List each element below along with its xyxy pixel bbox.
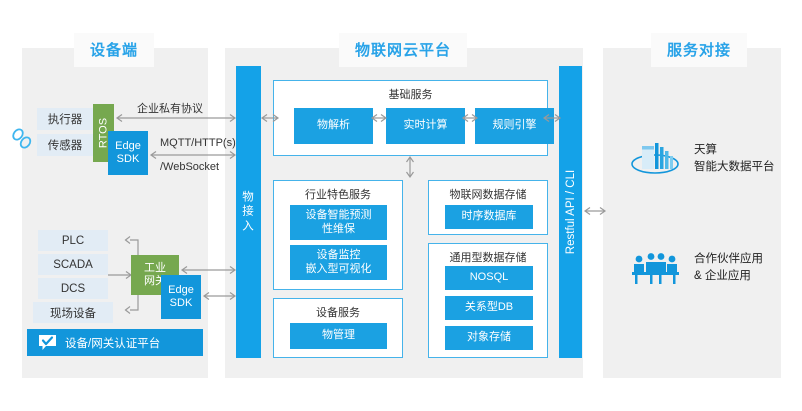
edge-sdk-device-label: Edge SDK bbox=[115, 140, 141, 165]
panel-title-device: 设备端 bbox=[74, 33, 154, 67]
link-icon bbox=[10, 126, 36, 152]
base-service-item-parse[interactable]: 物解析 bbox=[294, 108, 373, 144]
general-storage-item-object[interactable]: 对象存储 bbox=[445, 326, 533, 350]
restful-api-bar[interactable]: Restful API / CLI bbox=[559, 66, 582, 358]
service-partners-line1: 合作伙伴应用 bbox=[694, 251, 763, 268]
industry-service-item-predictive-label: 设备智能预测 性维保 bbox=[306, 209, 372, 235]
source-field-device[interactable]: 现场设备 bbox=[33, 302, 113, 323]
label-websocket: /WebSocket bbox=[160, 161, 219, 173]
ingress-bar-label: 物接入 bbox=[236, 190, 261, 233]
device-service-item-thing-mgmt[interactable]: 物管理 bbox=[290, 323, 387, 349]
partners-icon bbox=[630, 250, 680, 286]
check-bubble-icon bbox=[39, 335, 56, 350]
service-partners-line2: & 企业应用 bbox=[694, 268, 763, 285]
card-device-service-title: 设备服务 bbox=[274, 304, 402, 320]
arrow-gateway-to-platform-2 bbox=[201, 290, 238, 302]
device-cert-platform-bar[interactable]: 设备/网关认证平台 bbox=[27, 329, 203, 356]
card-general-storage-title: 通用型数据存储 bbox=[429, 249, 547, 265]
card-industry-service-title: 行业特色服务 bbox=[274, 186, 402, 202]
service-row-bigdata[interactable]: 天算 智能大数据平台 bbox=[630, 138, 775, 180]
industry-service-item-monitor[interactable]: 设备监控 嵌入型可视化 bbox=[290, 245, 387, 280]
device-endpoint-actuator[interactable]: 执行器 bbox=[37, 108, 93, 130]
industry-service-item-predictive[interactable]: 设备智能预测 性维保 bbox=[290, 205, 387, 240]
source-plc[interactable]: PLC bbox=[38, 230, 108, 251]
source-scada[interactable]: SCADA bbox=[38, 254, 108, 275]
service-bigdata-line2: 智能大数据平台 bbox=[694, 159, 775, 176]
ingress-bar[interactable]: 物接入 bbox=[236, 66, 261, 358]
base-service-item-realtime[interactable]: 实时计算 bbox=[386, 108, 465, 144]
general-storage-item-object-label: 对象存储 bbox=[467, 331, 511, 344]
arrow-realtime-to-rule bbox=[461, 112, 479, 124]
base-service-item-realtime-label: 实时计算 bbox=[404, 119, 448, 132]
arrow-platform-to-service bbox=[583, 205, 607, 217]
service-row-partners[interactable]: 合作伙伴应用 & 企业应用 bbox=[630, 250, 763, 286]
iot-storage-item-tsdb-label: 时序数据库 bbox=[462, 210, 517, 223]
arrow-gateway-to-platform-1 bbox=[179, 264, 238, 276]
source-scada-label: SCADA bbox=[53, 259, 93, 271]
arrow-ingress-to-base bbox=[260, 112, 280, 124]
arrow-private-protocol bbox=[114, 112, 238, 124]
label-mqtt-http: MQTT/HTTP(s) bbox=[160, 137, 236, 149]
panel-service-docking bbox=[603, 48, 781, 378]
general-storage-item-nosql-label: NOSQL bbox=[470, 271, 509, 284]
arrow-base-to-api bbox=[542, 112, 562, 124]
general-storage-item-rdb-label: 关系型DB bbox=[465, 301, 513, 314]
service-partners-text: 合作伙伴应用 & 企业应用 bbox=[694, 251, 763, 284]
source-field-device-label: 现场设备 bbox=[50, 305, 96, 321]
card-iot-storage-title: 物联网数据存储 bbox=[429, 186, 547, 202]
edge-sdk-gateway-label: Edge SDK bbox=[168, 284, 194, 309]
edge-sdk-device-box[interactable]: Edge SDK bbox=[108, 131, 148, 175]
panel-title-platform: 物联网云平台 bbox=[339, 33, 467, 67]
device-endpoint-sensor[interactable]: 传感器 bbox=[37, 134, 93, 156]
industry-service-item-monitor-label: 设备监控 嵌入型可视化 bbox=[306, 249, 372, 275]
architecture-diagram: 设备端 物联网云平台 服务对接 执行器 传感器 RTOS Edge SDK 企业… bbox=[0, 0, 802, 411]
arrow-parse-to-realtime bbox=[370, 112, 388, 124]
device-endpoint-actuator-label: 执行器 bbox=[48, 111, 83, 127]
card-base-service: 基础服务 物解析 实时计算 规则引擎 bbox=[273, 80, 548, 156]
bigdata-platform-icon bbox=[630, 138, 680, 180]
general-storage-item-rdb[interactable]: 关系型DB bbox=[445, 296, 533, 320]
arrow-base-to-lower bbox=[404, 156, 416, 178]
base-service-item-parse-label: 物解析 bbox=[317, 119, 350, 132]
card-base-service-title: 基础服务 bbox=[274, 86, 547, 102]
arrow-mqtt bbox=[148, 149, 238, 161]
source-plc-label: PLC bbox=[62, 235, 84, 247]
card-industry-service: 行业特色服务 设备智能预测 性维保 设备监控 嵌入型可视化 bbox=[273, 180, 403, 290]
panel-title-service: 服务对接 bbox=[651, 33, 747, 67]
device-endpoint-sensor-label: 传感器 bbox=[48, 137, 83, 153]
service-bigdata-text: 天算 智能大数据平台 bbox=[694, 142, 775, 175]
card-iot-storage: 物联网数据存储 时序数据库 bbox=[428, 180, 548, 235]
iot-storage-item-tsdb[interactable]: 时序数据库 bbox=[445, 205, 533, 229]
base-service-item-rule-engine-label: 规则引擎 bbox=[493, 119, 537, 132]
general-storage-item-nosql[interactable]: NOSQL bbox=[445, 266, 533, 290]
edge-sdk-gateway-box[interactable]: Edge SDK bbox=[161, 275, 201, 319]
source-dcs-label: DCS bbox=[61, 283, 85, 295]
restful-api-bar-label: Restful API / CLI bbox=[565, 170, 577, 254]
source-dcs[interactable]: DCS bbox=[38, 278, 108, 299]
device-service-item-thing-mgmt-label: 物管理 bbox=[322, 329, 355, 342]
service-bigdata-line1: 天算 bbox=[694, 142, 775, 159]
device-cert-platform-label: 设备/网关认证平台 bbox=[65, 335, 160, 351]
card-device-service: 设备服务 物管理 bbox=[273, 298, 403, 358]
card-general-storage: 通用型数据存储 NOSQL 关系型DB 对象存储 bbox=[428, 243, 548, 358]
